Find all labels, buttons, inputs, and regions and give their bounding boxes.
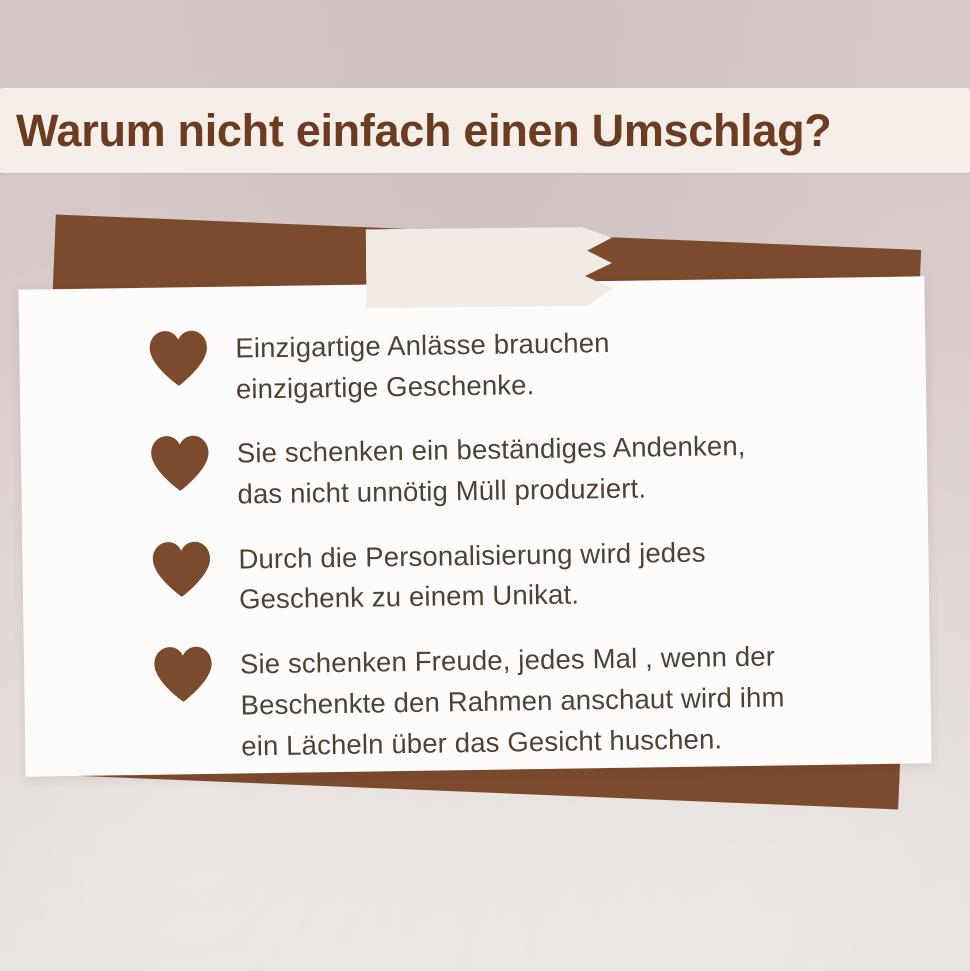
- list-item-line: Durch die Personalisierung wird jedes: [238, 532, 706, 580]
- heart-icon: [147, 329, 210, 388]
- heart-icon: [150, 540, 213, 599]
- list-item-line: Einzigartige Anlässe brauchen: [235, 323, 610, 369]
- washi-tape: [366, 227, 613, 309]
- list-item-text: Einzigartige Anlässe braucheneinzigartig…: [235, 321, 611, 410]
- list-item-line: Geschenk zu einem Unikat.: [239, 573, 707, 621]
- list-item-text: Sie schenken ein beständiges Andenken,da…: [237, 424, 747, 515]
- white-content-card: Einzigartige Anlässe braucheneinzigartig…: [18, 276, 931, 776]
- list-item-line: einzigartige Geschenke.: [236, 364, 611, 410]
- list-item-text: Durch die Personalisierung wird jedesGes…: [238, 530, 706, 620]
- benefits-list: Einzigartige Anlässe braucheneinzigartig…: [18, 276, 931, 776]
- list-item-text: Sie schenken Freude, jedes Mal , wenn de…: [240, 635, 786, 767]
- list-item: Durch die Personalisierung wird jedesGes…: [150, 528, 889, 622]
- headline-banner: Warum nicht einfach einen Umschlag?: [0, 88, 970, 173]
- list-item: Sie schenken Freude, jedes Mal , wenn de…: [152, 633, 892, 768]
- list-item-line: das nicht unnötig Müll produziert.: [237, 467, 746, 515]
- list-item-line: Sie schenken ein beständiges Andenken,: [237, 426, 746, 474]
- list-item: Einzigartige Anlässe braucheneinzigartig…: [147, 317, 886, 411]
- page-title: Warum nicht einfach einen Umschlag?: [0, 108, 843, 153]
- list-item-line: ein Lächeln über das Gesicht huschen.: [241, 718, 785, 767]
- heart-icon: [152, 645, 215, 704]
- heart-icon: [149, 434, 212, 493]
- list-item: Sie schenken ein beständiges Andenken,da…: [149, 422, 888, 516]
- poster-canvas: Warum nicht einfach einen Umschlag? Einz…: [0, 0, 970, 971]
